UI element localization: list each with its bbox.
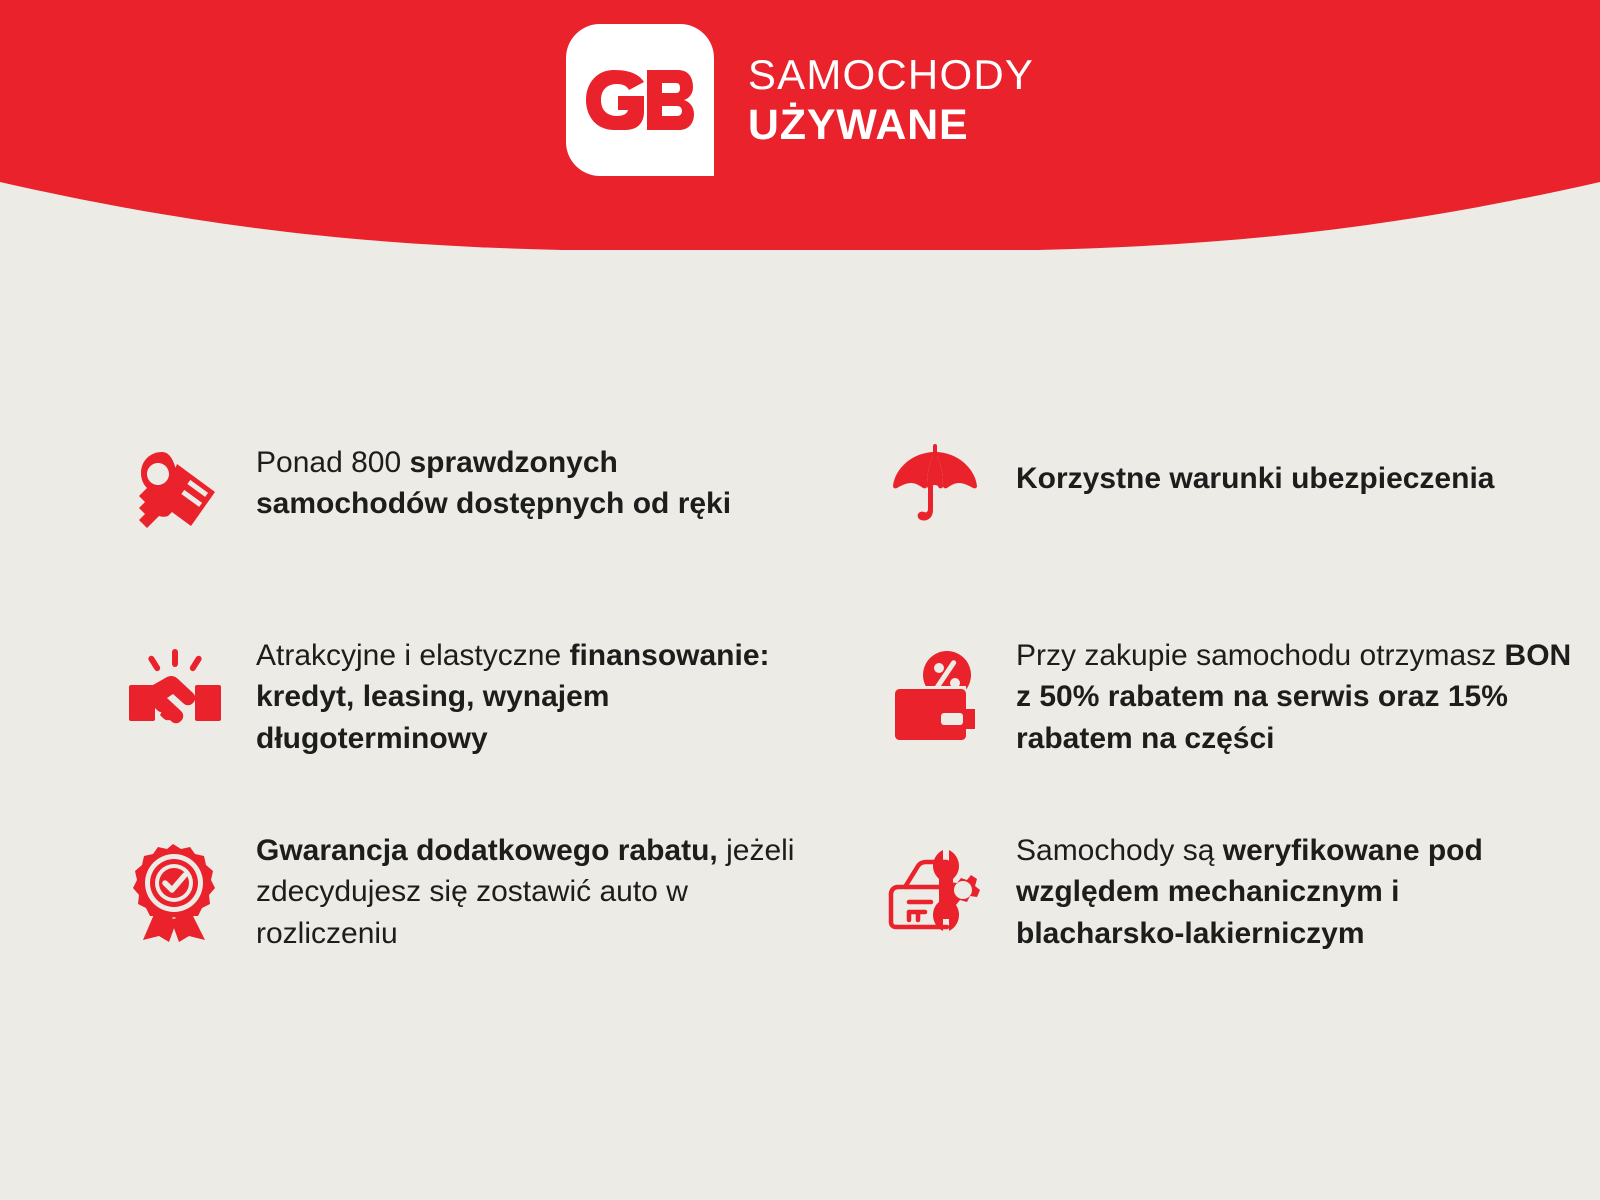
feature-text-keys: Ponad 800 sprawdzonych samochodów dostęp… xyxy=(256,440,816,525)
feature-item-voucher: Przy zakupie samochodu otrzymasz BON z 5… xyxy=(880,635,1600,830)
gb-monogram-icon xyxy=(584,68,696,132)
wallet-percent-icon xyxy=(880,635,990,745)
feature-item-insurance: Korzystne warunki ubezpieczenia xyxy=(880,440,1600,635)
brand-line-2: UŻYWANE xyxy=(748,104,1034,147)
brand-line-1: SAMOCHODY xyxy=(748,54,1034,96)
gb-logo-mark[interactable] xyxy=(566,24,714,176)
award-badge-check-icon xyxy=(120,830,230,942)
feature-text-bold: Gwarancja dodatkowego rabatu, xyxy=(256,834,718,867)
feature-item-verification: Samochody są weryfikowane pod względem m… xyxy=(880,830,1600,1025)
feature-text-regular: Samochody są xyxy=(1016,834,1223,867)
feature-text-financing: Atrakcyjne i elastyczne finansowanie: kr… xyxy=(256,635,816,759)
feature-text-insurance: Korzystne warunki ubezpieczenia xyxy=(1016,440,1494,499)
feature-item-guarantee: Gwarancja dodatkowego rabatu, jeżeli zde… xyxy=(120,830,880,1025)
header-logo-group: SAMOCHODY UŻYWANE xyxy=(0,0,1600,200)
feature-text-voucher: Przy zakupie samochodu otrzymasz BON z 5… xyxy=(1016,635,1576,759)
handshake-icon xyxy=(120,635,230,735)
feature-item-financing: Atrakcyjne i elastyczne finansowanie: kr… xyxy=(120,635,880,830)
feature-list: Ponad 800 sprawdzonych samochodów dostęp… xyxy=(0,440,1600,1025)
feature-text-verification: Samochody są weryfikowane pod względem m… xyxy=(1016,830,1576,954)
feature-text-regular: Atrakcyjne i elastyczne xyxy=(256,639,569,672)
brand-wordmark: SAMOCHODY UŻYWANE xyxy=(748,54,1034,147)
feature-text-regular: Ponad 800 xyxy=(256,446,409,479)
car-wrench-gear-icon xyxy=(880,830,990,934)
feature-item-keys: Ponad 800 sprawdzonych samochodów dostęp… xyxy=(120,440,880,635)
feature-text-bold: Korzystne warunki ubezpieczenia xyxy=(1016,462,1494,495)
page-header: SAMOCHODY UŻYWANE xyxy=(0,0,1600,250)
feature-text-regular: Przy zakupie samochodu otrzymasz xyxy=(1016,639,1505,672)
feature-text-guarantee: Gwarancja dodatkowego rabatu, jeżeli zde… xyxy=(256,830,816,954)
key-tag-icon xyxy=(120,440,230,530)
umbrella-icon xyxy=(880,440,990,528)
